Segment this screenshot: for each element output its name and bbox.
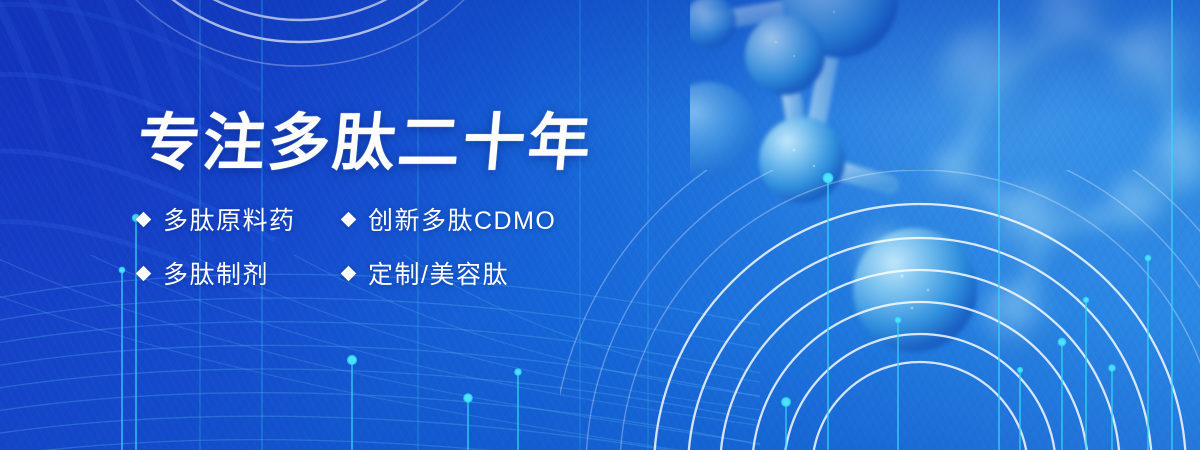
feature-cdmo[interactable]: 创新多肽CDMO	[343, 201, 758, 237]
feature-formulation[interactable]: 多肽制剂	[138, 255, 343, 291]
feature-api[interactable]: 多肽原料药	[138, 201, 343, 237]
feature-label: 创新多肽CDMO	[368, 201, 556, 237]
diamond-bullet-icon	[341, 211, 357, 227]
hero-banner: 专注多肽二十年 多肽原料药 创新多肽CDMO 多肽制剂 定制/美容肽	[0, 0, 1200, 450]
diamond-bullet-icon	[341, 265, 357, 281]
diamond-bullet-icon	[136, 211, 152, 227]
feature-label: 多肽原料药	[163, 201, 296, 237]
banner-content: 专注多肽二十年 多肽原料药 创新多肽CDMO 多肽制剂 定制/美容肽	[138, 112, 758, 291]
feature-label: 定制/美容肽	[368, 255, 509, 291]
feature-custom[interactable]: 定制/美容肽	[343, 255, 758, 291]
feature-label: 多肽制剂	[163, 255, 269, 291]
feature-list: 多肽原料药 创新多肽CDMO 多肽制剂 定制/美容肽	[138, 201, 758, 291]
diamond-bullet-icon	[136, 265, 152, 281]
page-title: 专注多肽二十年	[135, 112, 761, 175]
